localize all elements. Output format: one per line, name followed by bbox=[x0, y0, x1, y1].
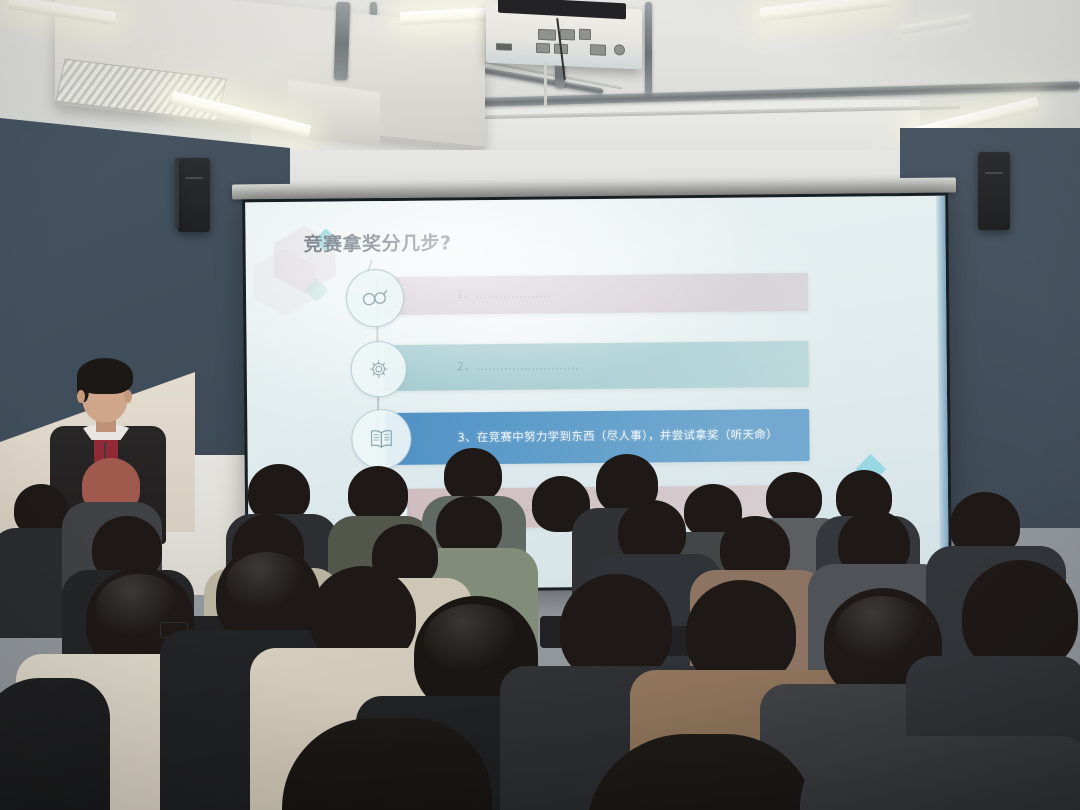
presenter-ear-2 bbox=[124, 390, 132, 403]
audience-seated: ESSE bbox=[0, 440, 1080, 810]
audience-head-far-3 bbox=[348, 466, 408, 522]
projector-port-6 bbox=[590, 44, 606, 56]
wall-speaker-right bbox=[978, 152, 1010, 230]
projector-vent bbox=[496, 43, 512, 51]
wall-box-small bbox=[175, 158, 179, 228]
gear-icon bbox=[368, 358, 390, 380]
slide-row-2-text: 2、.......................... bbox=[385, 357, 595, 377]
hvac-pipe-riser bbox=[334, 2, 351, 80]
presenter-ear bbox=[77, 390, 85, 403]
audience-head-far-4 bbox=[444, 448, 502, 502]
audience-foreground-left bbox=[0, 678, 110, 810]
slide-row-2-bar: 2、.......................... bbox=[385, 341, 809, 391]
slide-row-1-bar: 1、.................. bbox=[384, 273, 808, 315]
slide-row-1-circle bbox=[346, 269, 405, 328]
projector-port-2 bbox=[560, 29, 575, 41]
speaker-slot-right bbox=[985, 172, 1003, 174]
slide-title: 竞赛拿奖分几步? bbox=[303, 228, 451, 256]
audience-head-far-8 bbox=[766, 472, 822, 524]
projector-port-4 bbox=[536, 43, 550, 54]
projector-port-3 bbox=[579, 29, 591, 41]
ceiling-pipe-vertical-right bbox=[645, 2, 652, 94]
wall-speaker-left bbox=[178, 158, 210, 232]
glasses-icon bbox=[362, 289, 388, 307]
slide-row-1-text: 1、.................. bbox=[384, 285, 563, 305]
projector-port-7 bbox=[614, 44, 625, 55]
projector-port-1 bbox=[538, 29, 556, 41]
slide-row-2-circle bbox=[350, 341, 407, 398]
speaker-slot-left bbox=[185, 177, 203, 179]
projector-drop-pole bbox=[544, 62, 547, 106]
audience-foreground-right-jacket bbox=[800, 736, 1080, 810]
lecture-hall-photo: 竞赛拿奖分几步? 1、.................. 2、........… bbox=[0, 0, 1080, 810]
